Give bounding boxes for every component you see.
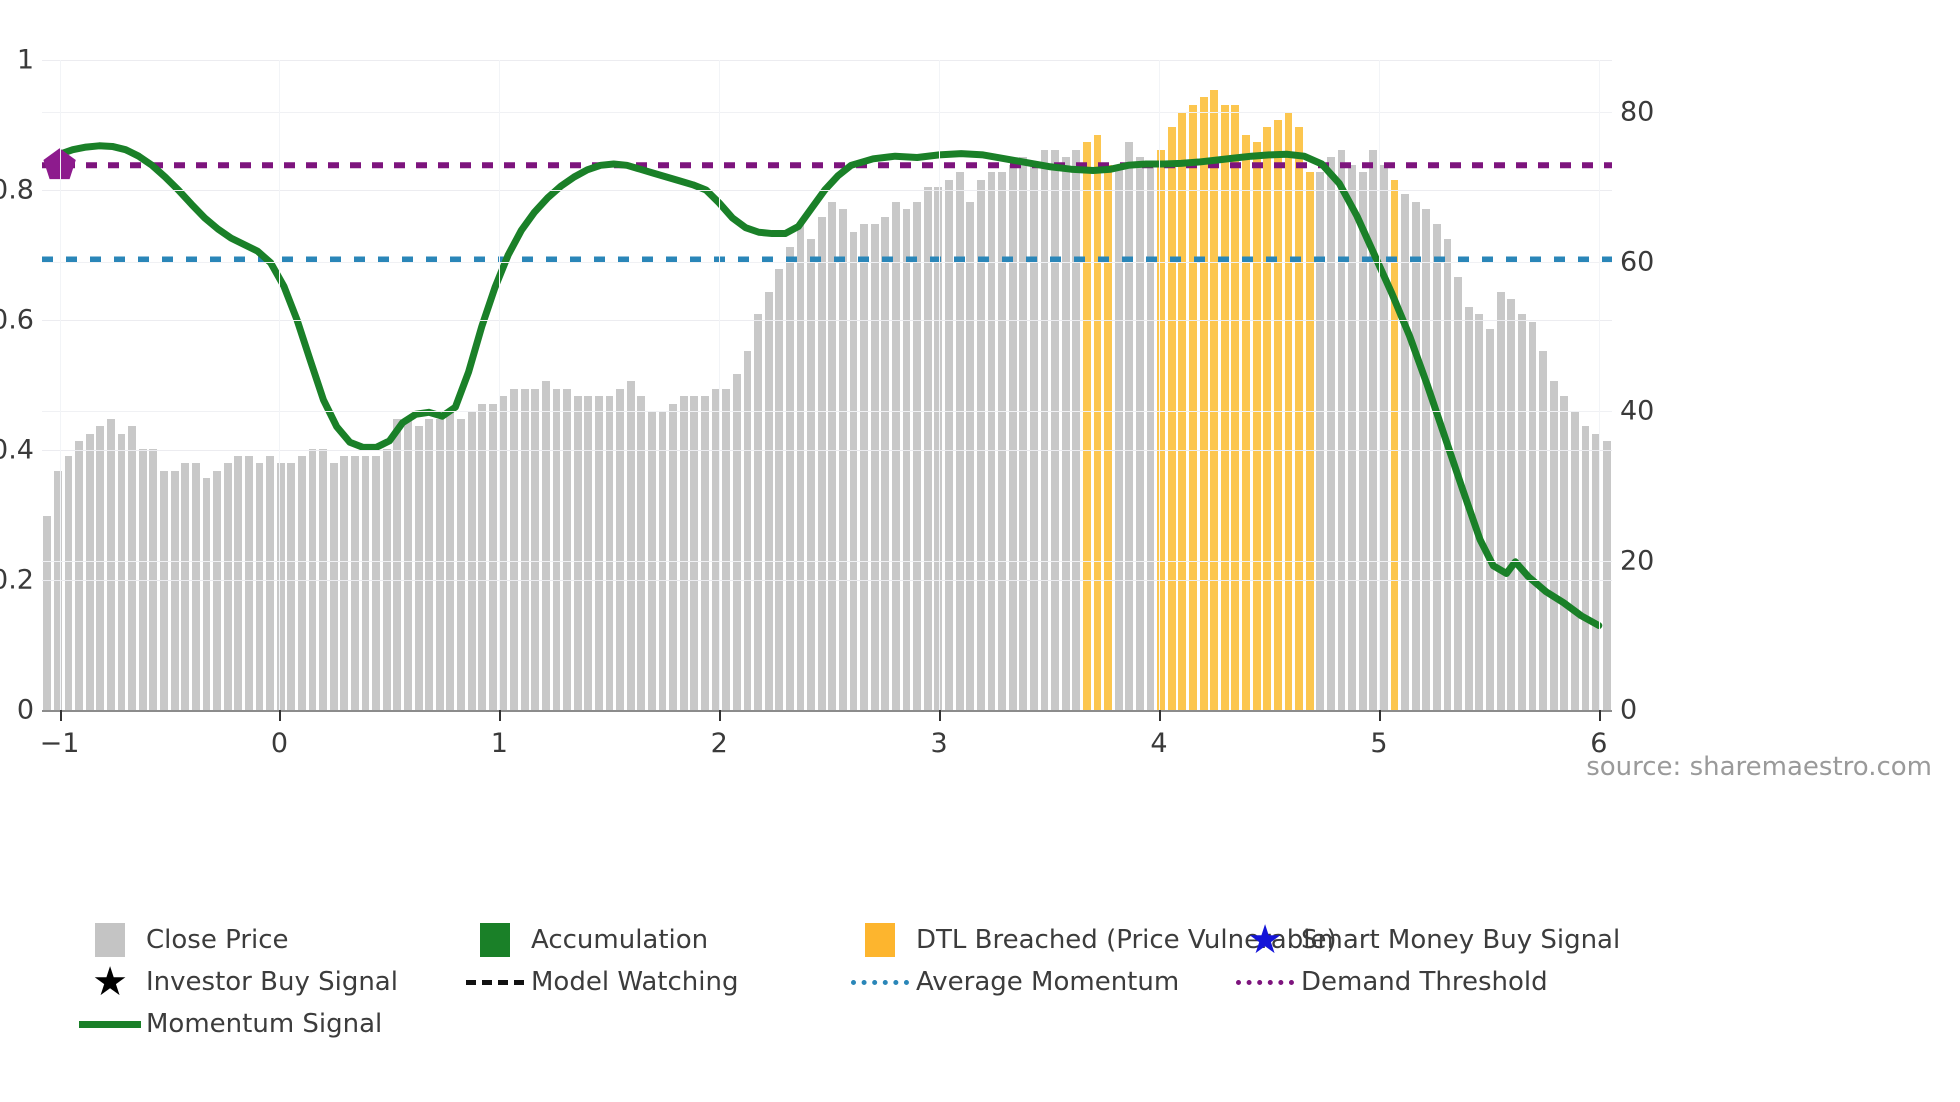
close-price-key <box>74 923 146 957</box>
y-axis-right: 020406080 <box>1620 60 1740 710</box>
gridline-vertical <box>1599 60 1600 710</box>
legend-row: Momentum Signal <box>74 1004 1904 1046</box>
chart-root: 00.20.40.60.81 020406080 −10123456 sourc… <box>0 0 1960 1102</box>
average-momentum-key <box>844 980 916 985</box>
legend-item-accumulation[interactable]: Accumulation <box>459 920 708 960</box>
x-tick-label: 3 <box>931 728 948 759</box>
legend-label: Close Price <box>146 925 289 955</box>
y-tick-right: 20 <box>1620 545 1654 576</box>
x-axis-line <box>42 710 1612 712</box>
accumulation-key <box>459 923 531 957</box>
x-tick <box>939 710 941 721</box>
gridline-vertical <box>939 60 940 710</box>
x-tick-label: 2 <box>711 728 728 759</box>
gridline-horizontal <box>42 60 1612 61</box>
x-tick <box>499 710 501 721</box>
gridline-vertical <box>1379 60 1380 710</box>
x-tick <box>279 710 281 721</box>
y-axis-left: 00.20.40.60.81 <box>0 60 34 710</box>
gridline-horizontal-right <box>42 262 1612 263</box>
gridline-vertical <box>1159 60 1160 710</box>
plot-area <box>42 60 1612 710</box>
y-tick-right: 80 <box>1620 97 1654 128</box>
star-icon: ★ <box>92 962 128 1002</box>
star-icon: ★ <box>1247 920 1283 960</box>
legend-item-investor-buy-signal[interactable]: ★Investor Buy Signal <box>74 962 398 1002</box>
gridline-horizontal <box>42 450 1612 451</box>
legend-label: Momentum Signal <box>146 1009 382 1039</box>
y-tick-right: 40 <box>1620 396 1654 427</box>
y-tick-left: 0.2 <box>0 565 34 596</box>
accumulation-swatch-icon <box>480 923 510 957</box>
demand-threshold-line-icon <box>1236 980 1294 985</box>
momentum-signal-key <box>74 1021 146 1028</box>
legend-item-smart-money-buy-signal[interactable]: ★Smart Money Buy Signal <box>1229 920 1620 960</box>
gridline-vertical <box>719 60 720 710</box>
legend-label: Accumulation <box>531 925 708 955</box>
legend-label: Smart Money Buy Signal <box>1301 925 1620 955</box>
legend-label: Demand Threshold <box>1301 967 1548 997</box>
gridline-vertical <box>60 60 61 710</box>
dtl-breached-swatch-icon <box>865 923 895 957</box>
legend-item-close-price[interactable]: Close Price <box>74 920 289 960</box>
legend-label: Investor Buy Signal <box>146 967 398 997</box>
close-price-swatch-icon <box>95 923 125 957</box>
legend-row: Close PriceAccumulationDTL Breached (Pri… <box>74 920 1904 962</box>
momentum-signal-line-icon <box>79 1021 141 1028</box>
x-tick-label: 0 <box>271 728 288 759</box>
x-tick-label: 1 <box>491 728 508 759</box>
y-tick-left: 1 <box>17 45 34 76</box>
legend-item-momentum-signal[interactable]: Momentum Signal <box>74 1004 382 1044</box>
gridline-vertical <box>499 60 500 710</box>
legend-label: Model Watching <box>531 967 738 997</box>
legend-item-model-watching[interactable]: Model Watching <box>459 962 738 1002</box>
y-tick-left: 0.6 <box>0 305 34 336</box>
legend-item-demand-threshold[interactable]: Demand Threshold <box>1229 962 1548 1002</box>
y-tick-left: 0.8 <box>0 175 34 206</box>
average-momentum-line-icon <box>851 980 909 985</box>
line-overlay <box>42 60 1612 710</box>
gridline-horizontal <box>42 190 1612 191</box>
chart-legend: Close PriceAccumulationDTL Breached (Pri… <box>74 920 1904 1046</box>
x-tick-label: 4 <box>1150 728 1167 759</box>
gridline-horizontal <box>42 580 1612 581</box>
smart-money-buy-signal-key: ★ <box>1229 920 1301 960</box>
model-watching-line-icon <box>466 980 524 985</box>
source-note: source: sharemaestro.com <box>1586 752 1932 782</box>
investor-buy-signal-key: ★ <box>74 962 146 1002</box>
demand-threshold-key <box>1229 980 1301 985</box>
legend-item-average-momentum[interactable]: Average Momentum <box>844 962 1179 1002</box>
x-tick <box>719 710 721 721</box>
gridline-vertical <box>279 60 280 710</box>
gridline-horizontal <box>42 320 1612 321</box>
legend-row: ★Investor Buy SignalModel WatchingAverag… <box>74 962 1904 1004</box>
dtl-breached-key <box>844 923 916 957</box>
y-tick-left: 0 <box>17 695 34 726</box>
gridline-horizontal-right <box>42 561 1612 562</box>
gridline-horizontal-right <box>42 411 1612 412</box>
x-tick <box>60 710 62 721</box>
x-tick-label: 5 <box>1370 728 1387 759</box>
y-tick-right: 60 <box>1620 246 1654 277</box>
x-tick <box>1599 710 1601 721</box>
x-tick-label: −1 <box>40 728 80 759</box>
model-watching-key <box>459 980 531 985</box>
gridline-horizontal-right <box>42 112 1612 113</box>
momentum-signal-line <box>60 146 1599 626</box>
x-tick <box>1379 710 1381 721</box>
plot-wrapper: 00.20.40.60.81 020406080 −10123456 sourc… <box>0 0 1960 860</box>
legend-label: Average Momentum <box>916 967 1179 997</box>
y-tick-right: 0 <box>1620 695 1637 726</box>
y-tick-left: 0.4 <box>0 435 34 466</box>
x-tick <box>1159 710 1161 721</box>
